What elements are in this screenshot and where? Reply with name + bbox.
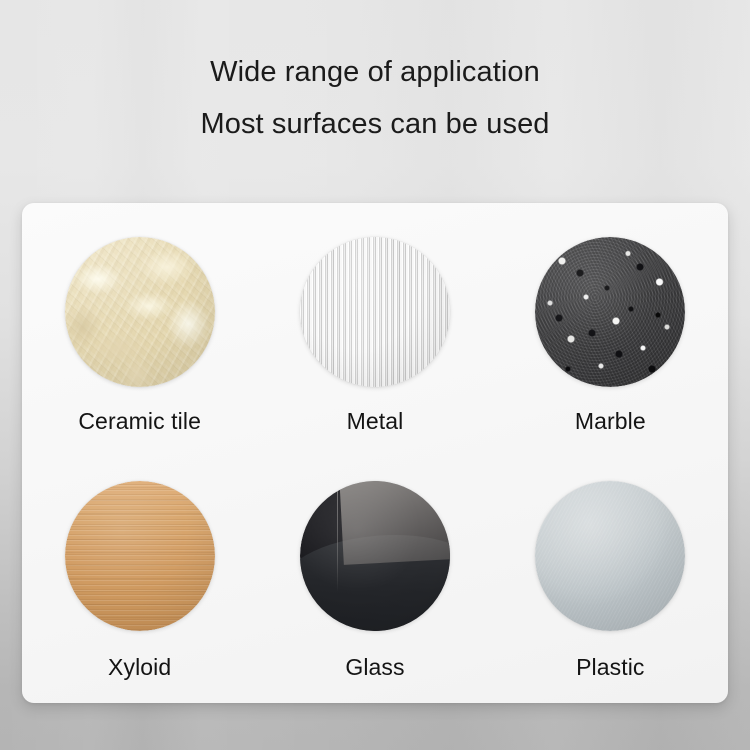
ceramic-tile-swatch: [65, 237, 215, 387]
surface-label-ceramic-tile: Ceramic tile: [78, 407, 201, 435]
surface-item-xyloid: Xyloid: [22, 453, 257, 703]
glass-pane-edge: [337, 481, 339, 592]
metal-swatch: [300, 237, 450, 387]
xyloid-swatch: [65, 481, 215, 631]
surface-label-metal: Metal: [347, 407, 404, 435]
glass-panel-texture: [300, 481, 450, 631]
ceramic-tile-texture: [65, 237, 215, 387]
surface-label-glass: Glass: [345, 653, 404, 681]
surface-item-marble: Marble: [493, 203, 728, 453]
plastic-swatch: [535, 481, 685, 631]
marble-swatch: [535, 237, 685, 387]
surface-item-metal: Metal: [257, 203, 492, 453]
glass-swatch: [300, 481, 450, 631]
headline-block: Wide range of application Most surfaces …: [0, 46, 750, 150]
glass-highlight-sweep: [300, 535, 450, 631]
brushed-metal-texture: [300, 237, 450, 387]
surfaces-grid: Ceramic tile Metal Marble Xyloid: [22, 203, 728, 703]
surface-item-plastic: Plastic: [493, 453, 728, 703]
plastic-matte-texture: [535, 481, 685, 631]
glass-pane-overlay: [339, 481, 450, 565]
surface-item-ceramic-tile: Ceramic tile: [22, 203, 257, 453]
surface-label-xyloid: Xyloid: [108, 653, 171, 681]
surface-label-plastic: Plastic: [576, 653, 644, 681]
marble-terrazzo-texture: [535, 237, 685, 387]
surface-label-marble: Marble: [575, 407, 646, 435]
headline-line-2: Most surfaces can be used: [0, 98, 750, 150]
surface-item-glass: Glass: [257, 453, 492, 703]
wood-grain-texture: [65, 481, 215, 631]
surfaces-card: Ceramic tile Metal Marble Xyloid: [22, 203, 728, 703]
headline-line-1: Wide range of application: [0, 46, 750, 98]
infographic-page: Wide range of application Most surfaces …: [0, 0, 750, 750]
